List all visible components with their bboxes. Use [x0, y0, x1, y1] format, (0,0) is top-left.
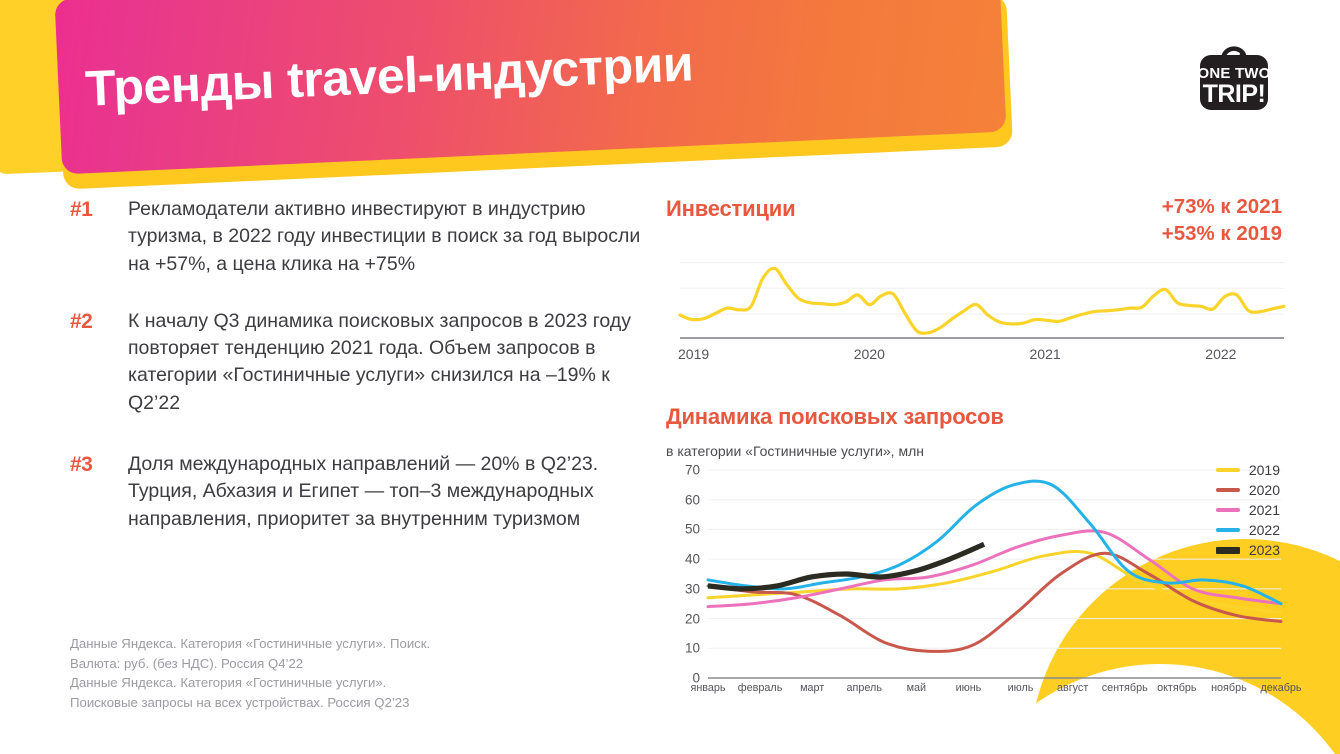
dynamics-legend: 20192020202120222023 — [1216, 460, 1280, 560]
legend-label-2021: 2021 — [1249, 502, 1280, 518]
investments-annotation-1: +73% к 2021 — [1162, 194, 1282, 221]
onetwotrip-logo: ONE TWO TRIP! — [1188, 36, 1280, 122]
investments-tick-2022: 2022 — [1205, 346, 1236, 362]
dynamics-xtick-4: май — [907, 682, 926, 694]
key-points-list: #1 Рекламодатели активно инвестируют в и… — [70, 196, 650, 563]
dynamics-chart-title: Динамика поисковых запросов — [666, 404, 1004, 430]
legend-item-2021[interactable]: 2021 — [1216, 500, 1280, 520]
investments-tick-2020: 2020 — [854, 346, 885, 362]
dynamics-xtick-5: июнь — [956, 682, 982, 694]
legend-item-2020[interactable]: 2020 — [1216, 480, 1280, 500]
footnote-line-3: Данные Яндекса. Категория «Гостиничные у… — [70, 673, 430, 693]
investments-chart: Инвестиции +73% к 2021 +53% к 2019 20192… — [666, 196, 1286, 376]
legend-label-2022: 2022 — [1249, 522, 1280, 538]
key-point-2-text: К началу Q3 динамика поисковых запросов … — [128, 308, 650, 417]
key-point-1-number: #1 — [70, 196, 128, 278]
legend-swatch-2022 — [1216, 528, 1240, 532]
legend-item-2022[interactable]: 2022 — [1216, 520, 1280, 540]
investments-x-axis-labels: 2019202020212022 — [666, 346, 1286, 366]
footnote-line-4: Поисковые запросы на всех устройствах. Р… — [70, 693, 430, 713]
footnotes: Данные Яндекса. Категория «Гостиничные у… — [70, 634, 430, 712]
dynamics-xtick-8: сентябрь — [1102, 682, 1148, 694]
dynamics-xtick-0: январь — [690, 682, 725, 694]
key-point-1: #1 Рекламодатели активно инвестируют в и… — [70, 196, 650, 278]
investments-line-plot — [666, 242, 1286, 350]
key-point-3-text: Доля международных направлений — 20% в Q… — [128, 451, 650, 533]
footnote-line-1: Данные Яндекса. Категория «Гостиничные у… — [70, 634, 430, 654]
investments-chart-title: Инвестиции — [666, 196, 795, 222]
dynamics-chart: Динамика поисковых запросов в категории … — [666, 404, 1286, 724]
key-point-2-number: #2 — [70, 308, 128, 417]
legend-label-2020: 2020 — [1249, 482, 1280, 498]
dynamics-xtick-9: октябрь — [1157, 682, 1196, 694]
legend-swatch-2020 — [1216, 488, 1240, 492]
dynamics-x-axis-labels: январьфевральмартапрельмайиюньиюльавгуст… — [706, 682, 1286, 700]
footnote-line-2: Валюта: руб. (без НДС). Россия Q4’22 — [70, 654, 430, 674]
investments-annotations: +73% к 2021 +53% к 2019 — [1162, 194, 1282, 247]
investments-tick-2019: 2019 — [678, 346, 709, 362]
dynamics-xtick-10: ноябрь — [1211, 682, 1247, 694]
legend-item-2019[interactable]: 2019 — [1216, 460, 1280, 480]
legend-swatch-2023 — [1216, 547, 1240, 554]
legend-swatch-2021 — [1216, 508, 1240, 512]
dynamics-xtick-3: апрель — [847, 682, 882, 694]
key-point-3-number: #3 — [70, 451, 128, 533]
key-point-3: #3 Доля международных направлений — 20% … — [70, 451, 650, 533]
key-point-2: #2 К началу Q3 динамика поисковых запрос… — [70, 308, 650, 417]
legend-item-2023[interactable]: 2023 — [1216, 540, 1280, 560]
dynamics-line-plot — [666, 466, 1286, 696]
legend-label-2019: 2019 — [1249, 462, 1280, 478]
legend-label-2023: 2023 — [1249, 542, 1280, 558]
dynamics-xtick-7: август — [1057, 682, 1088, 694]
dynamics-xtick-6: июль — [1008, 682, 1034, 694]
dynamics-xtick-2: март — [800, 682, 824, 694]
logo-line2-text: TRIP! — [1203, 80, 1266, 108]
dynamics-chart-subtitle: в категории «Гостиничные услуги», млн — [666, 443, 924, 459]
legend-swatch-2019 — [1216, 468, 1240, 472]
dynamics-xtick-11: декабрь — [1260, 682, 1301, 694]
investments-tick-2021: 2021 — [1030, 346, 1061, 362]
dynamics-xtick-1: февраль — [738, 682, 783, 694]
key-point-1-text: Рекламодатели активно инвестируют в инду… — [128, 196, 650, 278]
slide-root: Тренды travel-индустрии ONE TWO TRIP! #1… — [0, 0, 1340, 754]
